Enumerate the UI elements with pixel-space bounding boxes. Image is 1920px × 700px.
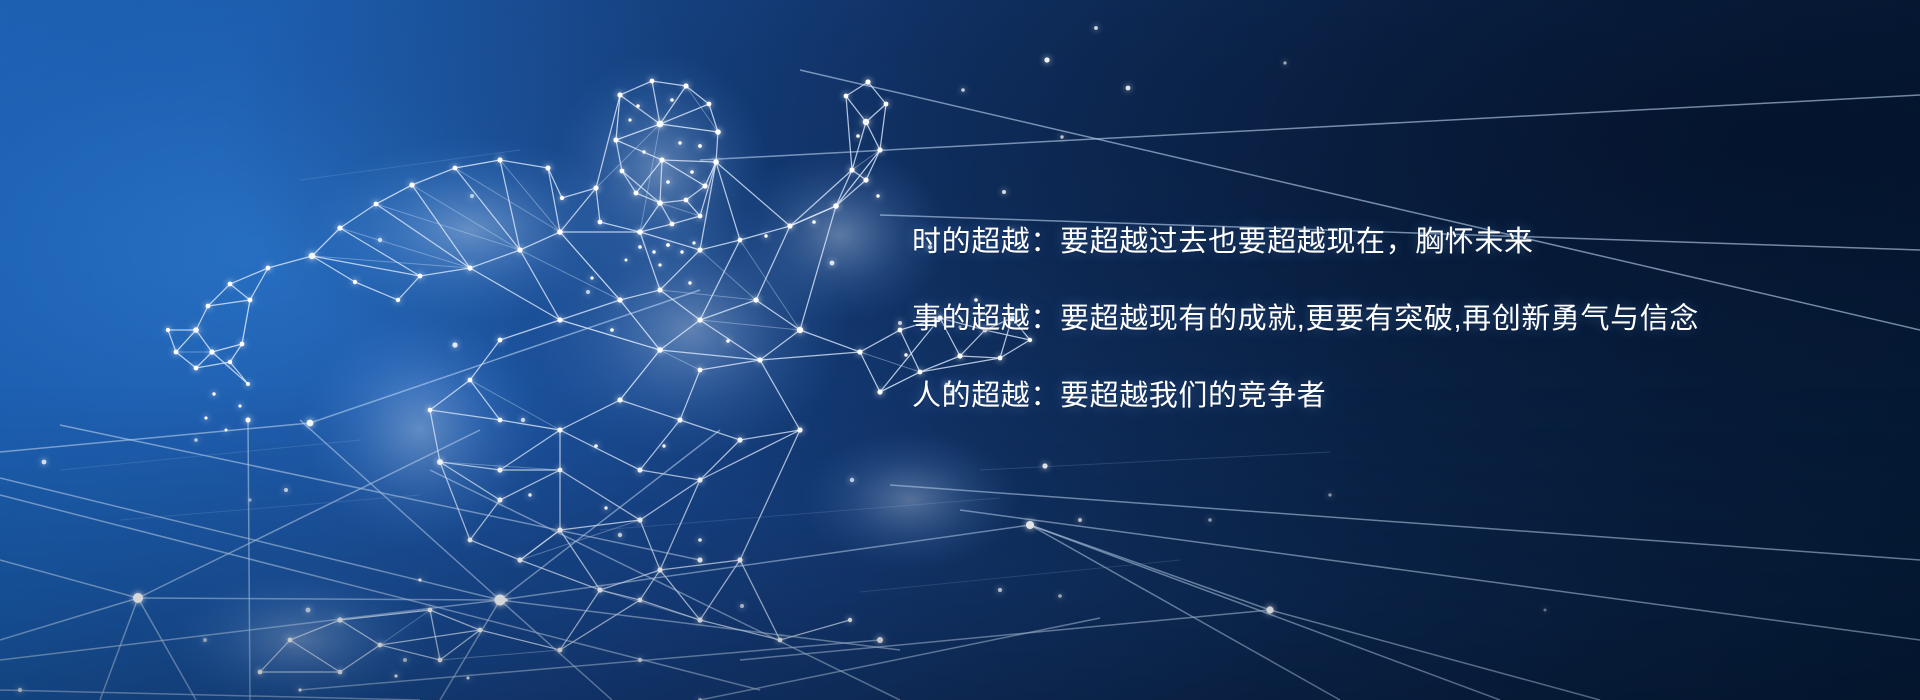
hero-banner: 时的超越：要超越过去也要超越现在，胸怀未来 事的超越：要超越现有的成就,更要有突… <box>0 0 1920 700</box>
slogan-line-people: 人的超越：要超越我们的竞争者 <box>912 382 1812 411</box>
slogan-line-time: 时的超越：要超越过去也要超越现在，胸怀未来 <box>912 228 1812 257</box>
slogan-text-block: 时的超越：要超越过去也要超越现在，胸怀未来 事的超越：要超越现有的成就,更要有突… <box>912 228 1812 411</box>
slogan-line-achievement: 事的超越：要超越现有的成就,更要有突破,再创新勇气与信念 <box>912 305 1812 334</box>
